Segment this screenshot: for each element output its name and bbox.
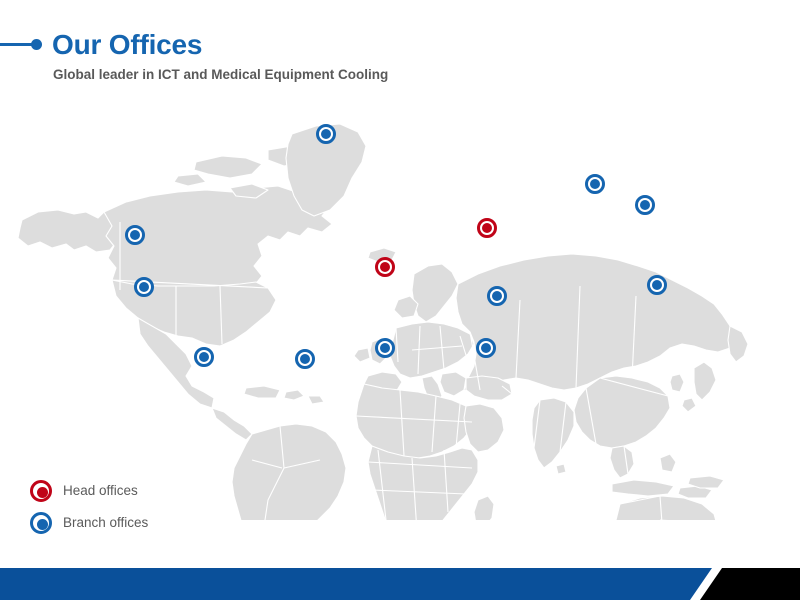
legend-marker-head-icon — [30, 480, 52, 502]
legend-marker-core-icon — [37, 487, 48, 498]
marker-colombia[interactable] — [194, 347, 214, 367]
footer-blue-shape — [0, 568, 712, 600]
marker-mexico[interactable] — [134, 277, 154, 297]
legend-label: Head offices — [63, 482, 138, 500]
header: Our Offices Global leader in ICT and Med… — [0, 0, 800, 110]
marker-greenland[interactable] — [316, 124, 336, 144]
marker-russia-north[interactable] — [585, 174, 605, 194]
marker-brazil[interactable] — [295, 349, 315, 369]
footer-band — [0, 568, 800, 600]
marker-core-icon — [321, 129, 331, 139]
marker-core-icon — [130, 230, 140, 240]
legend-item-head[interactable]: Head offices — [30, 476, 250, 508]
marker-united-kingdom[interactable] — [375, 257, 395, 277]
legend-label: Branch offices — [63, 514, 148, 532]
slide-canvas: Our Offices Global leader in ICT and Med… — [0, 0, 800, 600]
marker-arabian-peninsula[interactable] — [476, 338, 496, 358]
marker-core-icon — [199, 352, 209, 362]
footer-graphic — [0, 568, 800, 600]
world-map-container — [0, 100, 800, 520]
marker-core-icon — [492, 291, 502, 301]
footer-black-shape — [700, 568, 800, 600]
marker-siberia[interactable] — [635, 195, 655, 215]
marker-core-icon — [139, 282, 149, 292]
marker-core-icon — [380, 343, 390, 353]
marker-core-icon — [481, 343, 491, 353]
marker-core-icon — [652, 280, 662, 290]
map-legend: Head officesBranch offices — [30, 476, 250, 540]
marker-core-icon — [482, 223, 492, 233]
page-title: Our Offices — [52, 27, 202, 63]
marker-core-icon — [380, 262, 390, 272]
marker-core-icon — [590, 179, 600, 189]
legend-item-branch[interactable]: Branch offices — [30, 508, 250, 540]
marker-east-asia[interactable] — [647, 275, 667, 295]
marker-west-africa[interactable] — [375, 338, 395, 358]
page-subtitle: Global leader in ICT and Medical Equipme… — [53, 66, 388, 84]
world-map-graphic — [0, 100, 800, 520]
legend-marker-branch-icon — [30, 512, 52, 534]
marker-north-america-west[interactable] — [125, 225, 145, 245]
marker-russia-west[interactable] — [477, 218, 497, 238]
marker-core-icon — [300, 354, 310, 364]
title-accent-dot-icon — [31, 39, 42, 50]
legend-marker-core-icon — [37, 519, 48, 530]
marker-central-asia[interactable] — [487, 286, 507, 306]
marker-core-icon — [640, 200, 650, 210]
